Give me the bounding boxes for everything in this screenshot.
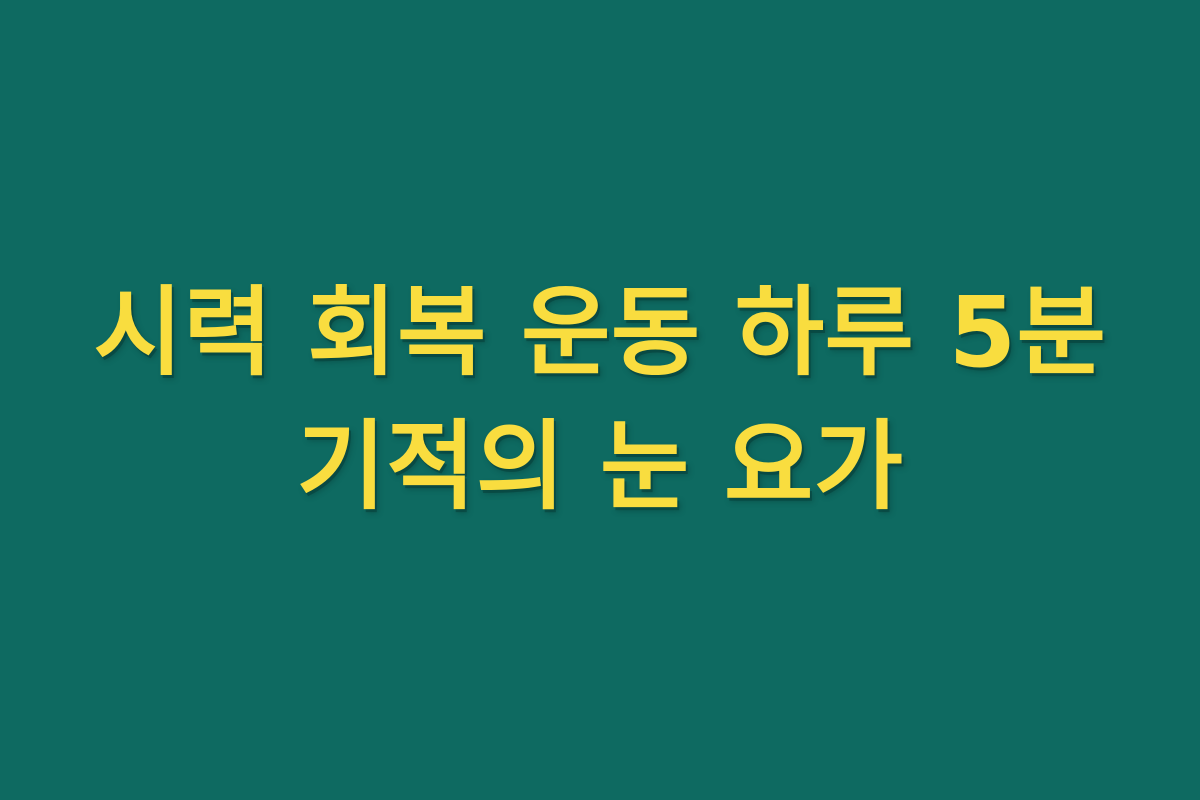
headline-block: 시력 회복 운동 하루 5분 기적의 눈 요가 bbox=[0, 266, 1200, 534]
headline-line-1: 시력 회복 운동 하루 5분 bbox=[40, 266, 1160, 400]
headline-line-2: 기적의 눈 요가 bbox=[40, 400, 1160, 534]
poster-canvas: 시력 회복 운동 하루 5분 기적의 눈 요가 bbox=[0, 0, 1200, 800]
